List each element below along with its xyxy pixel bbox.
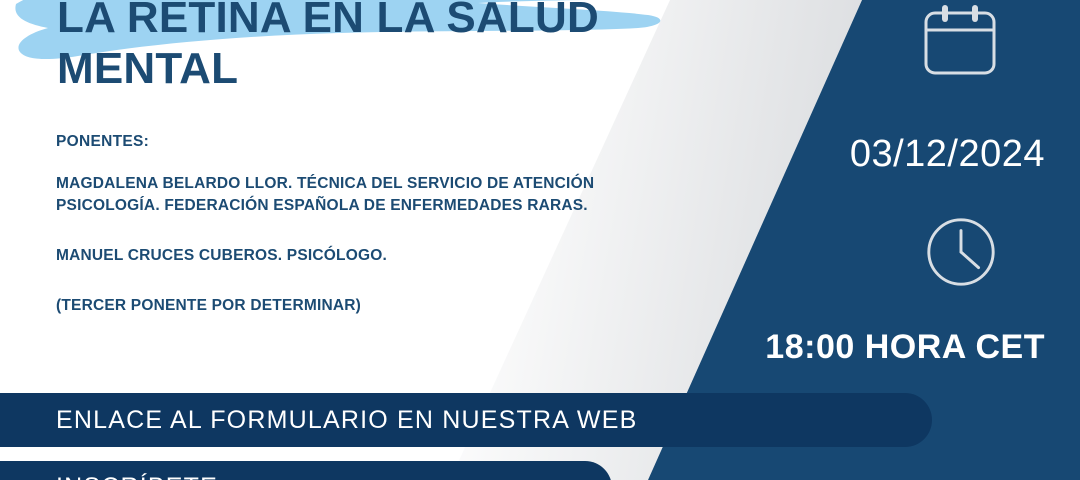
speakers-block: PONENTES: MAGDALENA BELARDO LLOR. TÉCNIC…	[56, 133, 696, 317]
poster-title: LA RETINA EN LA SALUD MENTAL	[57, 0, 697, 94]
calendar-icon	[920, 3, 1000, 83]
event-poster: LA RETINA EN LA SALUD MENTAL PONENTES: M…	[0, 0, 1080, 480]
speaker-entry-1: MAGDALENA BELARDO LLOR. TÉCNICA DEL SERV…	[56, 173, 696, 217]
speaker-entry-3: (TERCER PONENTE POR DETERMINAR)	[56, 295, 696, 317]
clock-icon	[922, 213, 1000, 291]
speakers-label: PONENTES:	[56, 133, 696, 151]
form-link-bar[interactable]: ENLACE AL FORMULARIO EN NUESTRA WEB	[0, 393, 932, 447]
event-date: 03/12/2024	[700, 133, 1045, 176]
register-bar[interactable]: INSCRÍBETE	[0, 461, 612, 480]
speaker-entry-2: MANUEL CRUCES CUBEROS. PSICÓLOGO.	[56, 245, 696, 267]
form-link-label: ENLACE AL FORMULARIO EN NUESTRA WEB	[56, 406, 637, 435]
register-label: INSCRÍBETE	[56, 473, 218, 480]
event-time: 18:00 HORA CET	[700, 328, 1045, 367]
